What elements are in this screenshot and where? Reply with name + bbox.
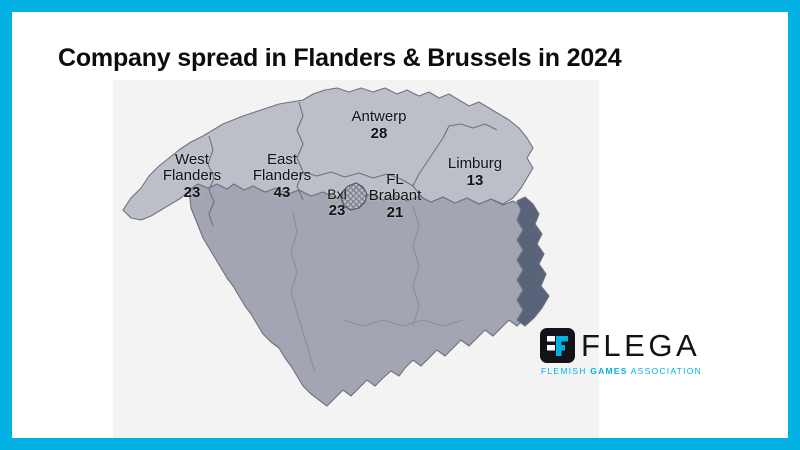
map-value-antwerp: 28 [331,126,427,142]
map-label-east-flanders-line2: Flanders [253,167,311,184]
flega-tagline-part1: FLEMISH [541,366,590,376]
flega-tagline: FLEMISH GAMES ASSOCIATION [541,366,702,376]
map-value-brussels: 23 [309,203,365,219]
map-label-east-flanders-line1: East [267,151,297,168]
map-label-west-flanders-line1: West [175,151,209,168]
map-label-brussels-line1: Bxl [327,186,346,202]
flega-logo[interactable]: FLEGA FLEMISH GAMES ASSOCIATION [540,328,666,378]
map-label-flemish-brabant-line1: FL [386,171,404,188]
map-label-antwerp-line1: Antwerp [351,108,406,125]
flega-mark-svg [540,328,575,363]
slide-canvas: Company spread in Flanders & Brussels in… [12,12,788,438]
flega-tagline-part3: ASSOCIATION [628,366,702,376]
flega-f-mark-icon [540,328,575,363]
map-label-flemish-brabant-line2: Brabant [369,187,422,204]
belgium-choropleth-map[interactable]: West Flanders 23 East Flanders 43 Antwer… [113,80,599,438]
map-label-west-flanders-line2: Flanders [163,167,221,184]
flega-tagline-part2: GAMES [590,366,627,376]
region-eastern-cantons [517,197,549,326]
map-label-limburg-line1: Limburg [448,155,502,172]
map-label-brussels: Bxl 23 [309,186,365,219]
page-title: Company spread in Flanders & Brussels in… [58,44,621,73]
map-label-antwerp: Antwerp 28 [331,109,427,142]
flega-wordmark: FLEGA [581,329,700,362]
